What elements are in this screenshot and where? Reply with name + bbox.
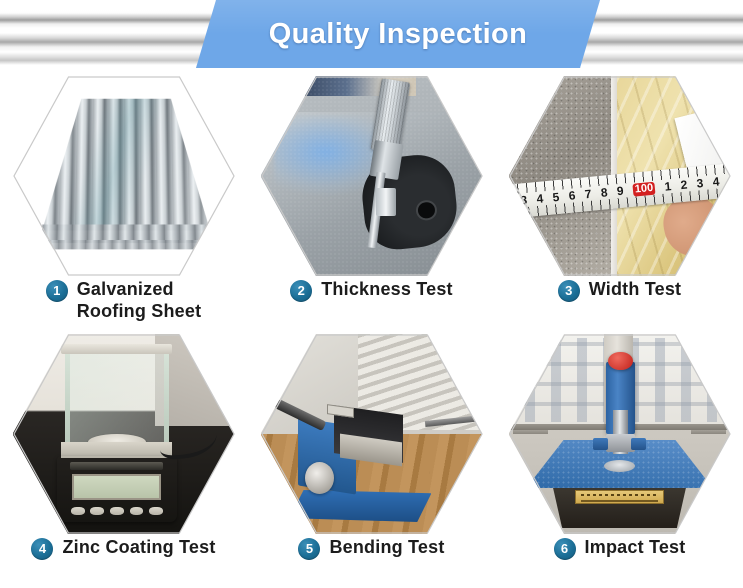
- hex-clip-4: [13, 334, 235, 534]
- caption-label-2: Thickness Test: [321, 278, 453, 300]
- quality-inspection-infographic: Quality Inspection: [0, 0, 743, 588]
- caption-2: 2 Thickness Test: [247, 278, 496, 302]
- hex-clip-2: [261, 76, 483, 276]
- hex-clip-3: 3 4 5 6 7 8 9 100 1 2 3: [509, 76, 731, 276]
- inspection-cell-3: 3 4 5 6 7 8 9 100 1 2 3: [496, 72, 743, 330]
- tape-num-3: 6: [568, 189, 576, 202]
- hex-photo-4: [13, 334, 235, 534]
- hex-clip-6: [509, 334, 731, 534]
- hex-clip-5: [261, 334, 483, 534]
- hex-photo-1: [13, 76, 235, 276]
- badge-number-5: 5: [298, 538, 320, 560]
- tape-num-10: 3: [696, 177, 704, 190]
- tape-num-11: 4: [712, 175, 720, 188]
- caption-6: 6 Impact Test: [496, 536, 743, 560]
- tape-num-0: 3: [519, 194, 527, 207]
- inspection-grid: 1 Galvanized Roofing Sheet: [0, 72, 743, 588]
- tape-num-8: 1: [663, 180, 671, 193]
- page-title: Quality Inspection: [196, 0, 600, 68]
- inspection-cell-5: 5 Bending Test: [247, 330, 496, 588]
- inspection-cell-1: 1 Galvanized Roofing Sheet: [0, 72, 247, 330]
- impact-tester-photo: [509, 334, 731, 534]
- micrometer-photo: [261, 76, 483, 276]
- badge-number-3: 3: [558, 280, 580, 302]
- inspection-cell-6: 6 Impact Test: [496, 330, 743, 588]
- bending-machine-photo: [261, 334, 483, 534]
- roofing-sheet-photo: [13, 76, 235, 276]
- hex-photo-5: [261, 334, 483, 534]
- caption-4: 4 Zinc Coating Test: [0, 536, 247, 560]
- badge-number-1: 1: [46, 280, 68, 302]
- analytical-balance-photo: [13, 334, 235, 534]
- caption-5: 5 Bending Test: [247, 536, 496, 560]
- tape-num-highlight-100: 100: [632, 181, 656, 196]
- tape-num-5: 8: [600, 186, 608, 199]
- tape-num-6: 9: [616, 185, 624, 198]
- hex-clip-1: [13, 76, 235, 276]
- caption-label-3: Width Test: [589, 278, 682, 300]
- caption-label-6: Impact Test: [585, 536, 686, 558]
- banner: Quality Inspection: [0, 0, 743, 72]
- inspection-cell-4: 4 Zinc Coating Test: [0, 330, 247, 588]
- badge-number-2: 2: [290, 280, 312, 302]
- hex-photo-6: [509, 334, 731, 534]
- hex-photo-2: [261, 76, 483, 276]
- badge-number-4: 4: [31, 538, 53, 560]
- caption-label-4: Zinc Coating Test: [62, 536, 215, 558]
- caption-label-1: Galvanized Roofing Sheet: [77, 278, 202, 322]
- tape-num-1: 4: [536, 192, 544, 205]
- tape-measure-photo: 3 4 5 6 7 8 9 100 1 2 3: [509, 76, 731, 276]
- caption-label-5: Bending Test: [329, 536, 444, 558]
- tape-num-4: 7: [584, 188, 592, 201]
- caption-1: 1 Galvanized Roofing Sheet: [0, 278, 247, 322]
- inspection-cell-2: 2 Thickness Test: [247, 72, 496, 330]
- caption-3: 3 Width Test: [496, 278, 743, 302]
- tape-num-2: 5: [552, 191, 560, 204]
- tape-num-9: 2: [680, 179, 688, 192]
- hex-photo-3: 3 4 5 6 7 8 9 100 1 2 3: [509, 76, 731, 276]
- badge-number-6: 6: [554, 538, 576, 560]
